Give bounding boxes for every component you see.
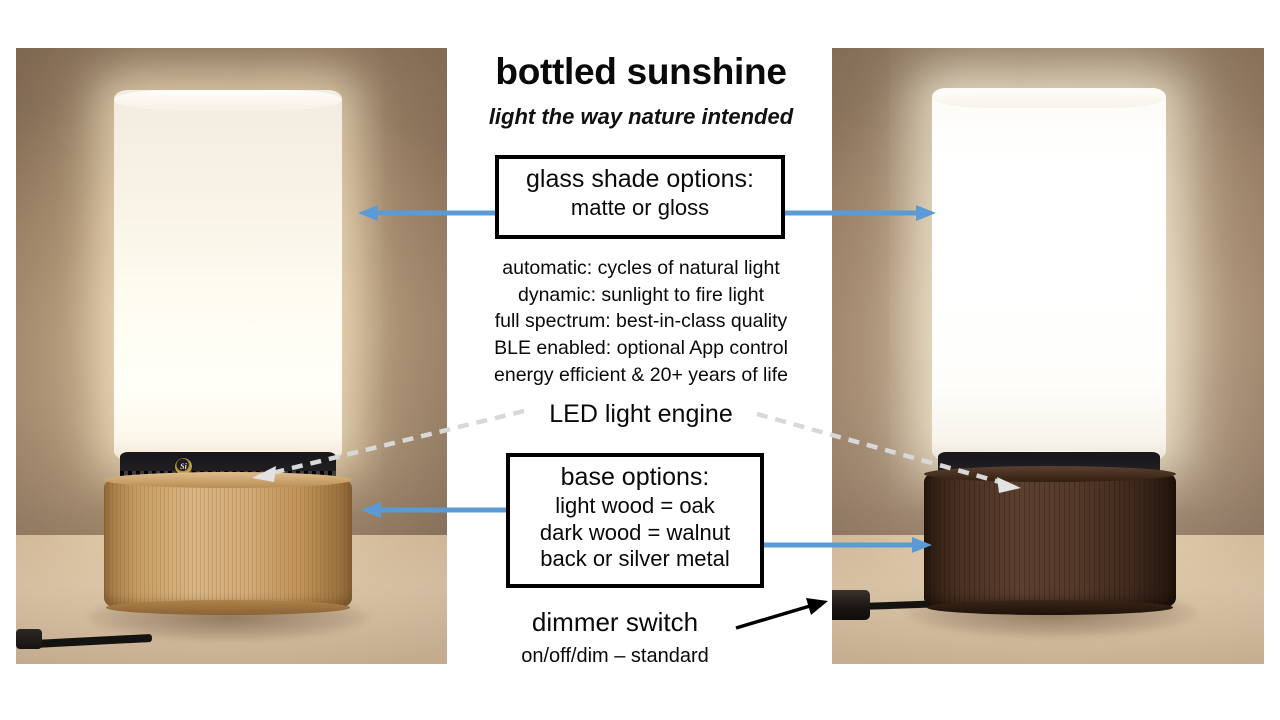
infographic-canvas: Si www.sunlightinside.com	[0, 0, 1280, 720]
arrow-base-options-left	[361, 502, 506, 518]
dimmer-switch-detail: on/off/dim – standard	[450, 645, 780, 668]
base-option-metal: back or silver metal	[510, 547, 760, 572]
glass-shade-options: matte or gloss	[499, 196, 781, 221]
callout-glass-shade-options: glass shade options: matte or gloss	[495, 155, 785, 239]
base-option-oak: light wood = oak	[510, 494, 760, 519]
dimmer-switch-label: dimmer switch	[450, 607, 780, 638]
arrow-base-options-right	[752, 537, 932, 553]
callout-base-options: base options: light wood = oak dark wood…	[506, 453, 764, 588]
base-options-heading: base options:	[510, 463, 760, 491]
base-option-walnut: dark wood = walnut	[510, 521, 760, 546]
arrow-glass-shade-right	[760, 205, 936, 221]
led-light-engine-label: LED light engine	[450, 400, 832, 429]
glass-shade-heading: glass shade options:	[499, 165, 781, 193]
